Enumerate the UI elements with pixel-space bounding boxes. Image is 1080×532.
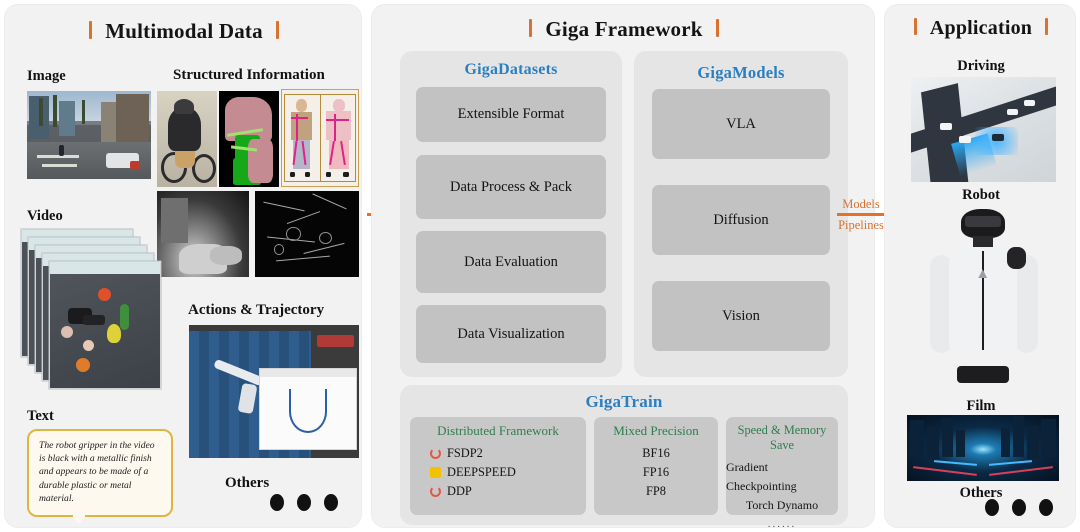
item-data-visualization[interactable]: Data Visualization — [416, 305, 606, 363]
title-bar-right-icon — [1045, 18, 1048, 35]
card-title-gigatrain: GigaTrain — [400, 385, 848, 412]
item-vla[interactable]: VLA — [652, 89, 830, 159]
train-item-label: FP16 — [643, 463, 669, 482]
panel-title-giga-framework: Giga Framework — [372, 17, 876, 42]
train-item-gradient-checkpointing[interactable]: Gradient Checkpointing — [726, 458, 838, 496]
callout-tail-icon — [71, 515, 87, 524]
label-image: Image — [27, 68, 66, 85]
figure-root: Multimodal Data Image Structured Informa… — [0, 0, 1080, 532]
item-vision[interactable]: Vision — [652, 281, 830, 351]
train-item-label: DDP — [447, 482, 472, 501]
train-item-label: Gradient Checkpointing — [726, 458, 838, 496]
title-bar-left-icon — [914, 18, 917, 35]
arrow-models-pipelines: Models Pipelines — [832, 197, 890, 232]
train-item-fsdp2[interactable]: FSDP2 — [410, 444, 586, 463]
card-gigadatasets: GigaDatasets Extensible Format Data Proc… — [400, 51, 622, 377]
train-column-distributed-framework: Distributed Framework FSDP2 DEEPSPEED DD… — [410, 417, 586, 515]
thumbnail-film-cityscape — [907, 415, 1059, 481]
item-data-process-pack[interactable]: Data Process & Pack — [416, 155, 606, 219]
train-item-ddp[interactable]: DDP — [410, 482, 586, 501]
thumbnail-humanoid-robot — [923, 207, 1043, 390]
thumbnail-robot-simulation — [189, 325, 359, 458]
item-data-evaluation[interactable]: Data Evaluation — [416, 231, 606, 293]
panel-application: Application Driving Robot Film — [884, 4, 1076, 528]
item-diffusion[interactable]: Diffusion — [652, 185, 830, 255]
card-title-gigadatasets: GigaDatasets — [400, 51, 622, 79]
label-driving: Driving — [885, 58, 1077, 75]
arrow-pipelines-label: Pipelines — [832, 218, 890, 232]
label-structured-information: Structured Information — [173, 67, 325, 84]
title-bar-left-icon — [89, 21, 92, 39]
pytorch-icon — [430, 448, 441, 459]
deepspeed-icon — [430, 467, 441, 478]
card-title-gigamodels: GigaModels — [634, 51, 848, 83]
item-extensible-format[interactable]: Extensible Format — [416, 87, 606, 142]
label-text: Text — [27, 408, 54, 425]
train-item-label: FP8 — [646, 482, 666, 501]
text-sample-copy: The robot gripper in the video is black … — [29, 431, 171, 505]
panel-title-text: Application — [930, 17, 1032, 39]
title-bar-left-icon — [529, 19, 532, 37]
text-sample-callout: The robot gripper in the video is black … — [27, 429, 173, 517]
label-robot: Robot — [885, 187, 1077, 204]
thumbnail-driving-scene — [911, 77, 1056, 182]
card-gigamodels: GigaModels VLA Diffusion Vision — [634, 51, 848, 377]
train-item-ellipsis: ...... — [726, 515, 838, 532]
label-others-left: Others — [225, 475, 269, 492]
thumbnail-street-scene — [27, 91, 151, 179]
thumbnail-edge-map — [255, 191, 359, 277]
thumbnail-pose-keypoints — [281, 89, 359, 187]
train-head-distributed-framework: Distributed Framework — [410, 417, 586, 439]
train-item-label: ...... — [768, 515, 797, 532]
thumbnail-cyclist-photo — [157, 91, 217, 187]
panel-title-text: Giga Framework — [545, 17, 702, 41]
train-item-label: Torch Dynamo — [746, 496, 818, 515]
arrow-models-label: Models — [832, 197, 890, 211]
train-item-bf16[interactable]: BF16 — [594, 444, 718, 463]
label-video: Video — [27, 208, 63, 225]
train-item-fp16[interactable]: FP16 — [594, 463, 718, 482]
label-film: Film — [885, 398, 1077, 415]
pytorch-icon — [430, 486, 441, 497]
panel-title-application: Application — [885, 17, 1077, 40]
train-item-deepspeed[interactable]: DEEPSPEED — [410, 463, 586, 482]
arrow-models-line-icon — [837, 213, 885, 216]
card-gigatrain: GigaTrain Distributed Framework FSDP2 DE… — [400, 385, 848, 525]
panel-multimodal-data: Multimodal Data Image Structured Informa… — [4, 4, 362, 528]
panel-title-multimodal: Multimodal Data — [5, 19, 363, 44]
thumbnail-video-frame-stack — [21, 229, 167, 393]
thumbnail-segmentation-mask — [219, 91, 279, 187]
title-bar-right-icon — [276, 21, 279, 39]
label-actions-trajectory: Actions & Trajectory — [188, 302, 324, 319]
panel-giga-framework: Giga Framework GigaDatasets Extensible F… — [371, 4, 875, 528]
train-head-speed-memory-save: Speed & Memory Save — [726, 417, 838, 453]
train-column-speed-memory-save: Speed & Memory Save Gradient Checkpointi… — [726, 417, 838, 515]
title-bar-right-icon — [716, 19, 719, 37]
train-item-label: BF16 — [642, 444, 670, 463]
train-item-label: FSDP2 — [447, 444, 483, 463]
thumbnail-depth-map — [157, 191, 249, 277]
ellipsis-dots-right — [985, 499, 1053, 516]
train-head-mixed-precision: Mixed Precision — [594, 417, 718, 439]
train-column-mixed-precision: Mixed Precision BF16 FP16 FP8 — [594, 417, 718, 515]
train-item-label: DEEPSPEED — [447, 463, 516, 482]
ellipsis-dots-left — [270, 494, 338, 511]
train-item-fp8[interactable]: FP8 — [594, 482, 718, 501]
panel-title-text: Multimodal Data — [105, 19, 263, 43]
train-item-torch-dynamo[interactable]: Torch Dynamo — [726, 496, 838, 515]
